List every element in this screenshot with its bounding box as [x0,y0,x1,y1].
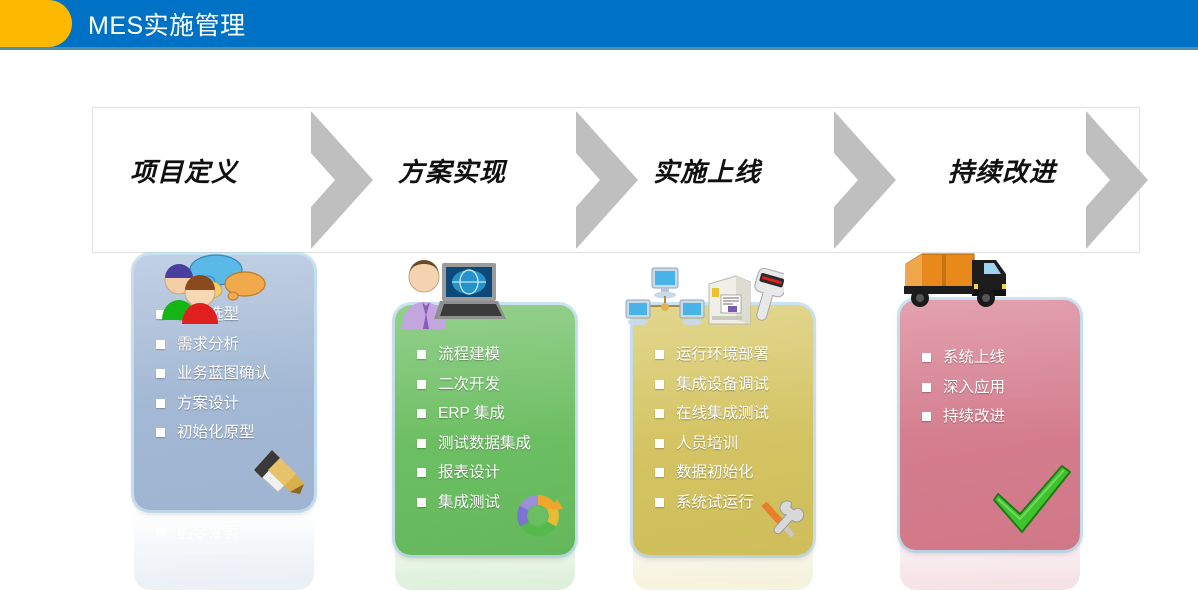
bullet-square-icon [417,439,426,448]
list-item-label: 系统上线 [943,350,1005,366]
list-item-label: 流程建模 [438,347,500,363]
list-item[interactable]: 运行环境部署 [655,347,803,363]
bullet-square-icon [417,380,426,389]
phase-card-1[interactable]: 配合选型 需求分析 业务蓝图确认 方案设计 初始化原型 [134,255,314,510]
list-item[interactable]: 测试数据集成 [417,436,565,452]
list-item-label: 持续改进 [943,409,1005,425]
list-item[interactable]: 方案设计 [156,396,304,412]
bullet-square-icon [922,383,931,392]
bullet-square-icon [156,310,165,319]
phase-title-2: 方案实现 [398,145,506,195]
list-item[interactable]: ERP 集成 [417,406,565,422]
phase-4-bullet-list: 系统上线 深入应用 持续改进 [922,350,1070,439]
list-item-label: 在线集成测试 [676,406,769,422]
phase-title-1: 项目定义 [130,145,238,195]
list-item-label: 二次开发 [438,377,500,393]
header-accent-shape [0,0,72,47]
list-item-label: 系统试运行 [676,495,754,511]
bullet-square-icon [156,399,165,408]
phase-title-3: 实施上线 [653,145,761,195]
list-item[interactable]: 二次开发 [417,377,565,393]
list-item-label: 集成设备调试 [676,377,769,393]
bullet-square-icon [417,498,426,507]
bullet-square-icon [156,340,165,349]
list-item-label: 人员培训 [676,436,738,452]
list-item-label: 方案设计 [177,396,239,412]
list-item-label: 测试数据集成 [438,436,531,452]
bullet-square-icon [417,409,426,418]
list-item[interactable]: 数据初始化 [655,465,803,481]
chevron-1-icon [305,107,379,253]
bullet-square-icon [655,498,664,507]
list-item-label: ERP 集成 [438,406,505,422]
page-header: MES实施管理 [0,0,1198,47]
chevron-4-icon [1080,107,1154,253]
process-cycle-icon [511,489,565,543]
list-item-label: 数据初始化 [676,465,754,481]
phase-title-4: 持续改进 [948,145,1056,195]
list-item-label: 报表设计 [438,465,500,481]
list-item[interactable]: 深入应用 [922,380,1070,396]
list-item-label: 业务蓝图确认 [177,366,270,382]
list-item-label: 配合选型 [177,307,239,323]
list-item[interactable]: 集成设备调试 [655,377,803,393]
page-title: MES实施管理 [88,0,246,47]
pen-writing-icon [250,444,308,496]
list-item[interactable]: 流程建模 [417,347,565,363]
list-item-label: 初始化原型 [177,425,255,441]
list-item[interactable]: 配合选型 [156,307,304,323]
phase-1-bullet-list: 配合选型 需求分析 业务蓝图确认 方案设计 初始化原型 [156,307,304,455]
list-item[interactable]: 需求分析 [156,337,304,353]
card-reflection-1: 配合选型 需求分析 业务蓝图确认 [134,510,314,590]
bullet-square-icon [417,468,426,477]
bullet-square-icon [417,350,426,359]
green-checkmark-icon [988,464,1074,536]
phase-card-3[interactable]: 运行环境部署 集成设备调试 在线集成测试 人员培训 数据初始化 系统试运行 [633,305,813,555]
diagram-stage: 项目定义 方案实现 实施上线 持续改进 配合选型 需求分析 业务蓝图确认 报表设… [0,50,1198,591]
list-item-label: 集成测试 [438,495,500,511]
bullet-square-icon [156,369,165,378]
bullet-square-icon [655,468,664,477]
chevron-2-icon [570,107,644,253]
bullet-square-icon [922,353,931,362]
phase-card-2[interactable]: 流程建模 二次开发 ERP 集成 测试数据集成 报表设计 集成测试 [395,305,575,555]
list-item[interactable]: 初始化原型 [156,425,304,441]
bullet-square-icon [156,428,165,437]
list-item-label: 深入应用 [943,380,1005,396]
bullet-square-icon [655,439,664,448]
list-item[interactable]: 业务蓝图确认 [156,366,304,382]
list-item-label: 运行环境部署 [676,347,769,363]
bullet-square-icon [655,350,664,359]
slide-root: MES实施管理 项目定义 方案实现 实施上线 持续改进 配合选型 需求分 [0,0,1198,591]
list-item[interactable]: 人员培训 [655,436,803,452]
phase-card-4[interactable]: 系统上线 深入应用 持续改进 [900,300,1080,550]
list-item[interactable]: 持续改进 [922,409,1070,425]
bullet-square-icon [922,412,931,421]
bullet-square-icon [655,380,664,389]
list-item[interactable]: 报表设计 [417,465,565,481]
tools-wrench-screwdriver-icon [749,493,805,545]
chevron-3-icon [828,107,902,253]
list-item[interactable]: 系统上线 [922,350,1070,366]
list-item-label: 需求分析 [177,337,239,353]
list-item[interactable]: 在线集成测试 [655,406,803,422]
bullet-square-icon [655,409,664,418]
